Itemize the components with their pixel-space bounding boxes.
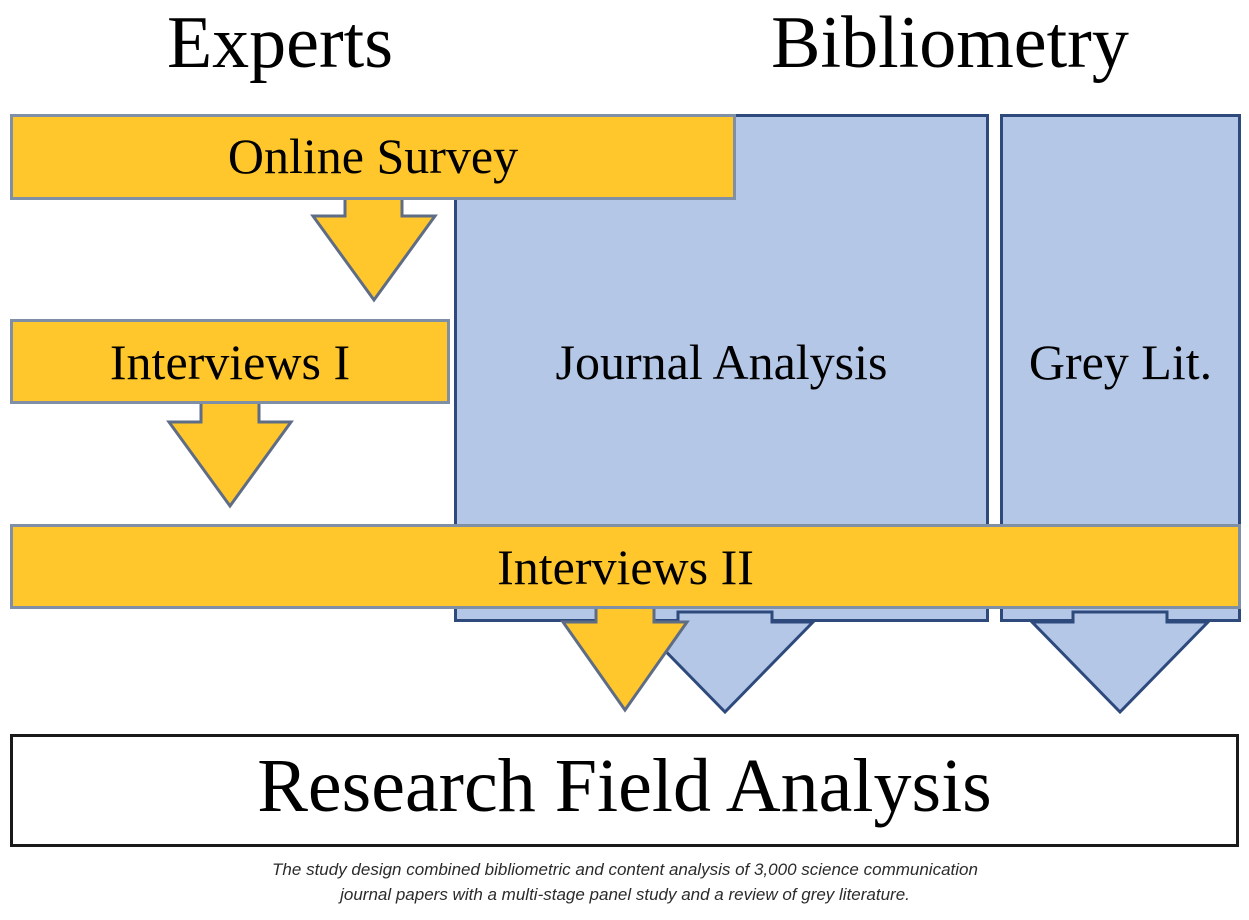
column-header-bibliometry: Bibliometry (640, 6, 1249, 80)
caption-line-1: The study design combined bibliometric a… (150, 858, 1100, 883)
arrow-interviews1-to-interviews2 (169, 400, 291, 506)
diagram-canvas (0, 0, 1249, 920)
column-header-experts: Experts (60, 6, 500, 80)
box-interviews-1 (12, 321, 449, 403)
box-research-field (12, 736, 1238, 846)
study-design-diagram: Experts Bibliometry Online Survey Interv… (0, 0, 1249, 920)
arrow-survey-to-interviews1 (313, 196, 435, 300)
box-online-survey (12, 116, 735, 199)
arrow-greylit-to-result (1032, 612, 1208, 712)
caption-line-2: journal papers with a multi-stage panel … (150, 883, 1100, 908)
box-interviews-2 (12, 526, 1240, 608)
diagram-caption: The study design combined bibliometric a… (150, 858, 1100, 907)
